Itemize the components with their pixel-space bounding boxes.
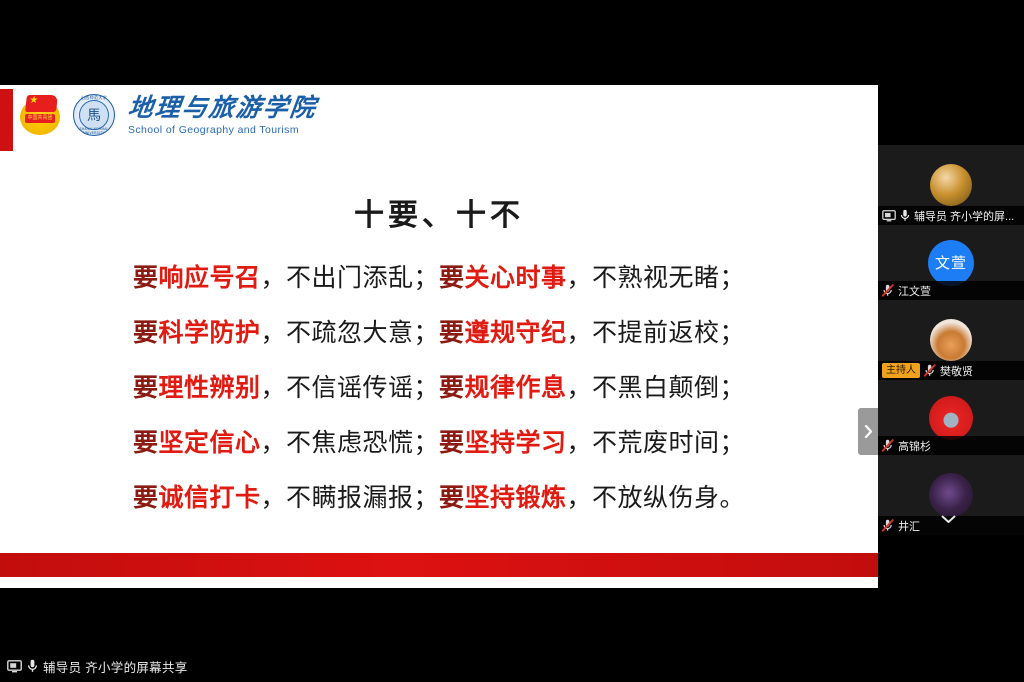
participant-tile[interactable]: 主持人 樊敬贤 (878, 300, 1024, 380)
participant-name: 辅导员 齐小学的屏... (914, 208, 1014, 224)
slide-left-accent-bar (0, 89, 13, 151)
slide-line-segment: 要 (133, 483, 159, 512)
screen-share-icon (7, 660, 22, 673)
slide-line-segment: 要 (133, 428, 159, 457)
participant-name: 井汇 (898, 518, 920, 534)
avatar (930, 164, 972, 206)
chevron-down-icon (941, 515, 956, 524)
slide-line-segment: ，不信谣传谣； (260, 373, 439, 402)
slide-line-segment: 遵规守纪 (465, 318, 567, 347)
screen-share-icon (882, 210, 896, 222)
slide-line: 要科学防护，不疏忽大意；要遵规守纪，不提前返校； (0, 305, 878, 360)
conference-window: 中国共青团 山西师范大学 馬 SHANXI NORMAL UNIVERSITY … (0, 0, 1024, 682)
microphone-muted-icon (882, 519, 894, 532)
slide-line-segment: ，不熟视无睹； (567, 263, 746, 292)
slide-line-segment: 要 (439, 263, 465, 292)
slide-line-segment: 要 (133, 373, 159, 402)
slide-line-segment: 关心时事 (465, 263, 567, 292)
host-badge: 主持人 (882, 363, 920, 378)
slide-header: 中国共青团 山西师范大学 馬 SHANXI NORMAL UNIVERSITY … (18, 93, 317, 137)
university-seal-logo-icon: 山西师范大学 馬 SHANXI NORMAL UNIVERSITY (72, 93, 116, 137)
slide-line-segment: ，不出门添乱； (260, 263, 439, 292)
school-name-en: School of Geography and Tourism (128, 123, 317, 137)
participant-name: 樊敬贤 (940, 363, 973, 379)
school-name-block: 地理与旅游学院 School of Geography and Tourism (128, 93, 317, 137)
collapse-panel-button[interactable] (858, 408, 878, 455)
slide-line-segment: 理性辨别 (158, 373, 260, 402)
slide-line-segment: 要 (439, 318, 465, 347)
slide-line-segment: 要 (439, 428, 465, 457)
slide-title: 十要、十不 (0, 190, 878, 234)
slide-line-segment: 要 (439, 483, 465, 512)
expand-participants-button[interactable] (940, 512, 956, 526)
slide-line-segment: ，不提前返校； (567, 318, 746, 347)
slide-line-segment: 规律作息 (465, 373, 567, 402)
microphone-icon (27, 659, 38, 673)
microphone-muted-icon (882, 439, 894, 452)
participant-name-bar: 江文萱 (878, 281, 1024, 300)
participant-name-bar: 主持人 樊敬贤 (878, 361, 1024, 380)
slide-line-segment: 坚持学习 (465, 428, 567, 457)
slide-line-segment: ，不疏忽大意； (260, 318, 439, 347)
slide-footer-accent-bar (0, 553, 878, 577)
slide-line-segment: ，不荒废时间； (567, 428, 746, 457)
slide-body-lines: 要响应号召，不出门添乱；要关心时事，不熟视无睹；要科学防护，不疏忽大意；要遵规守… (0, 250, 878, 525)
slide-line-segment: 要 (439, 373, 465, 402)
slide-line-segment: 要 (133, 318, 159, 347)
seal-top-text: 山西师范大学 (72, 95, 116, 101)
participant-video-strip[interactable]: 辅导员 齐小学的屏...文萱 江文萱主持人 樊敬贤 高锦杉 井汇 (878, 0, 1024, 682)
participant-tile[interactable]: 高锦杉 (878, 380, 1024, 455)
slide-line-segment: ，不瞒报漏报； (260, 483, 439, 512)
school-name-cn: 地理与旅游学院 (126, 93, 319, 122)
slide-line-segment: ，不黑白颠倒； (567, 373, 746, 402)
slide-line-segment: 坚定信心 (158, 428, 260, 457)
slide-line-segment: 响应号召 (158, 263, 260, 292)
participant-name: 江文萱 (898, 283, 931, 299)
slide-line-segment: ，不焦虑恐慌； (260, 428, 439, 457)
communist-youth-league-emblem-icon: 中国共青团 (18, 93, 62, 137)
screen-share-status-label: 辅导员 齐小学的屏幕共享 (43, 657, 188, 676)
participant-name: 高锦杉 (898, 438, 931, 454)
slide-line-segment: 要 (133, 263, 159, 292)
avatar (929, 396, 973, 440)
slide-line-segment: 坚持锻炼 (465, 483, 567, 512)
avatar (929, 473, 973, 517)
slide-line-segment: 诚信打卡 (158, 483, 260, 512)
slide-line: 要诚信打卡，不瞒报漏报；要坚持锻炼，不放纵伤身。 (0, 470, 878, 525)
slide-line: 要坚定信心，不焦虑恐慌；要坚持学习，不荒废时间； (0, 415, 878, 470)
seal-glyph: 馬 (72, 105, 116, 125)
avatar: 文萱 (928, 240, 974, 286)
screen-share-status-bar: 辅导员 齐小学的屏幕共享 (0, 650, 878, 682)
seal-bottom-text: SHANXI NORMAL UNIVERSITY (72, 127, 116, 135)
microphone-icon (900, 209, 910, 222)
participant-tile[interactable]: 文萱 江文萱 (878, 225, 1024, 300)
avatar (930, 319, 972, 361)
shared-screen-region[interactable]: 中国共青团 山西师范大学 馬 SHANXI NORMAL UNIVERSITY … (0, 85, 878, 650)
youth-league-band-text: 中国共青团 (25, 114, 55, 123)
chevron-right-icon (864, 425, 873, 438)
microphone-muted-icon (882, 284, 894, 297)
presentation-slide: 中国共青团 山西师范大学 馬 SHANXI NORMAL UNIVERSITY … (0, 85, 878, 588)
slide-line-segment: ，不放纵伤身。 (567, 483, 746, 512)
slide-line-segment: 科学防护 (158, 318, 260, 347)
slide-line: 要理性辨别，不信谣传谣；要规律作息，不黑白颠倒； (0, 360, 878, 415)
slide-line: 要响应号召，不出门添乱；要关心时事，不熟视无睹； (0, 250, 878, 305)
participant-name-bar: 高锦杉 (878, 436, 1024, 455)
participant-name-bar: 辅导员 齐小学的屏... (878, 206, 1024, 225)
participant-tile[interactable]: 辅导员 齐小学的屏... (878, 145, 1024, 225)
microphone-muted-icon (924, 364, 936, 377)
